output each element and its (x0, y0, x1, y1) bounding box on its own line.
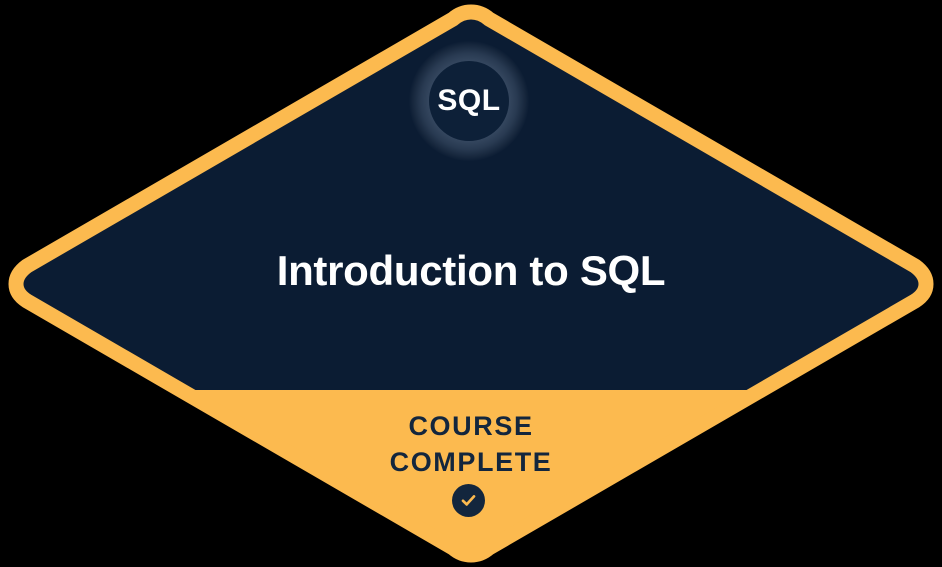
status-line-course: COURSE (0, 408, 942, 444)
completion-status: COURSE COMPLETE (0, 408, 942, 480)
course-title: Introduction to SQL (0, 243, 942, 299)
course-completion-badge: SQL Introduction to SQL COURSE COMPLETE (0, 0, 942, 567)
sql-emblem-icon: SQL (409, 41, 529, 161)
completion-check-badge (452, 484, 485, 517)
sql-emblem-label: SQL (437, 86, 500, 116)
status-line-complete: COMPLETE (0, 444, 942, 480)
check-circle-icon (459, 491, 478, 510)
